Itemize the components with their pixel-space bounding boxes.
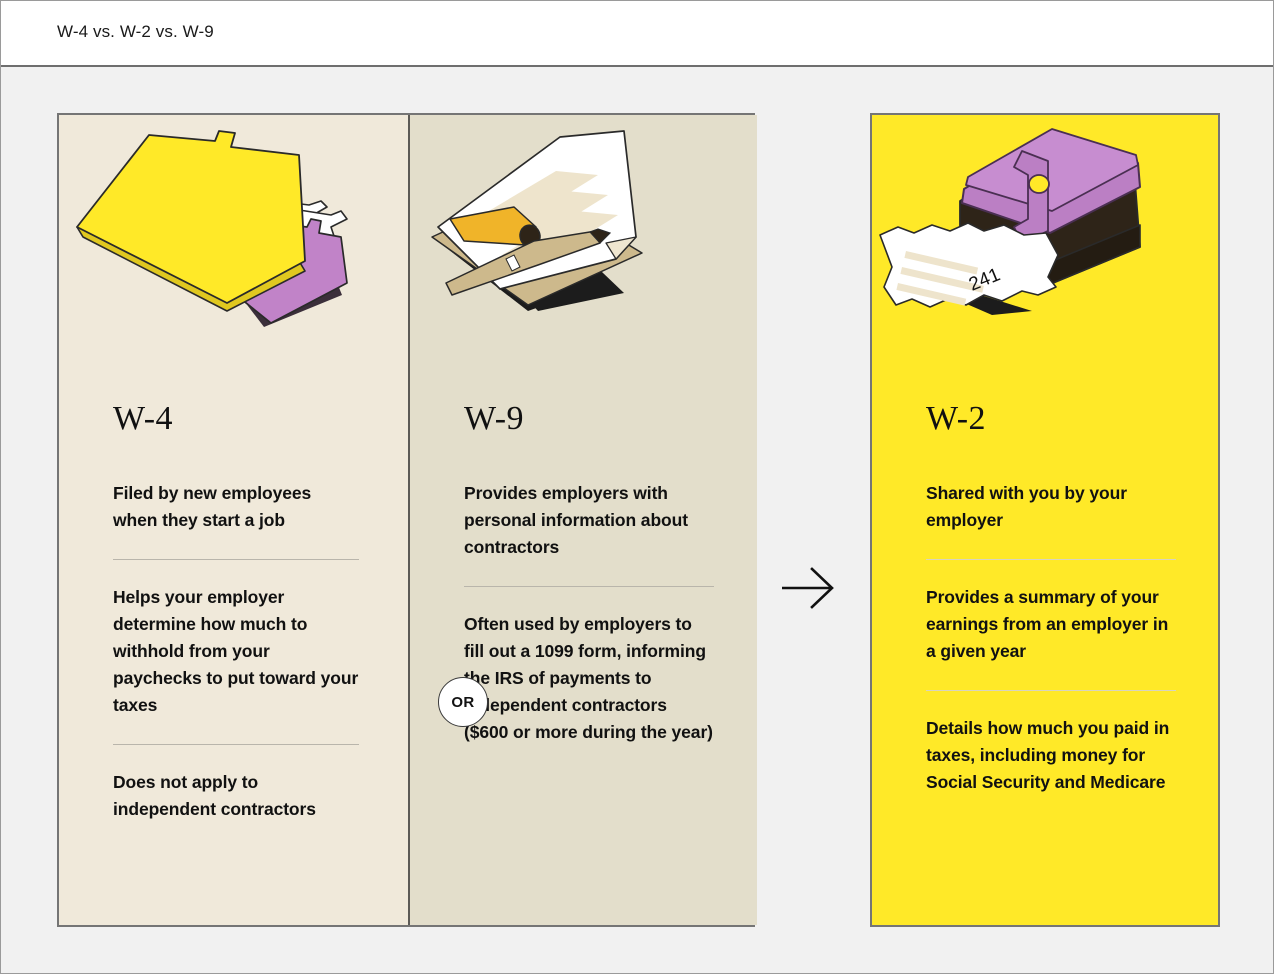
card-body-w9: W-9 Provides employers with personal inf… — [464, 402, 714, 746]
bullet-w4-3: Does not apply to independent contractor… — [113, 769, 359, 823]
page-title: W-4 vs. W-2 vs. W-9 — [57, 22, 214, 42]
wallet-and-receipt-illustration: 241 — [872, 115, 1218, 345]
divider — [926, 559, 1176, 560]
document-and-pen-illustration — [410, 115, 757, 345]
bullet-w4-2: Helps your employer determine how much t… — [113, 584, 359, 719]
header-bar: W-4 vs. W-2 vs. W-9 — [1, 1, 1273, 67]
bullet-w9-2: Often used by employers to fill out a 10… — [464, 611, 714, 746]
form-title-w2: W-2 — [926, 402, 1176, 436]
bullet-w2-3: Details how much you paid in taxes, incl… — [926, 715, 1176, 796]
bullet-w2-1: Shared with you by your employer — [926, 480, 1176, 534]
column-w4: W-4 Filed by new employees when they sta… — [59, 115, 408, 925]
panel-w4-w9: W-4 Filed by new employees when they sta… — [57, 113, 755, 927]
infographic-page: W-4 vs. W-2 vs. W-9 — [0, 0, 1274, 974]
bullet-w9-1: Provides employers with personal informa… — [464, 480, 714, 561]
form-title-w9: W-9 — [464, 402, 714, 436]
file-folders-illustration — [59, 115, 408, 345]
divider — [926, 690, 1176, 691]
bullet-w4-1: Filed by new employees when they start a… — [113, 480, 359, 534]
card-body-w2: W-2 Shared with you by your employer Pro… — [926, 402, 1176, 796]
card-body-w4: W-4 Filed by new employees when they sta… — [113, 402, 359, 823]
divider — [113, 744, 359, 745]
divider — [113, 559, 359, 560]
bullet-w2-2: Provides a summary of your earnings from… — [926, 584, 1176, 665]
or-badge: OR — [438, 677, 488, 727]
column-w9: W-9 Provides employers with personal inf… — [408, 115, 757, 925]
divider — [464, 586, 714, 587]
form-title-w4: W-4 — [113, 402, 359, 436]
panel-w2: 241 W-2 Shared with you by your employer… — [870, 113, 1220, 927]
arrow-right-icon — [780, 566, 840, 611]
